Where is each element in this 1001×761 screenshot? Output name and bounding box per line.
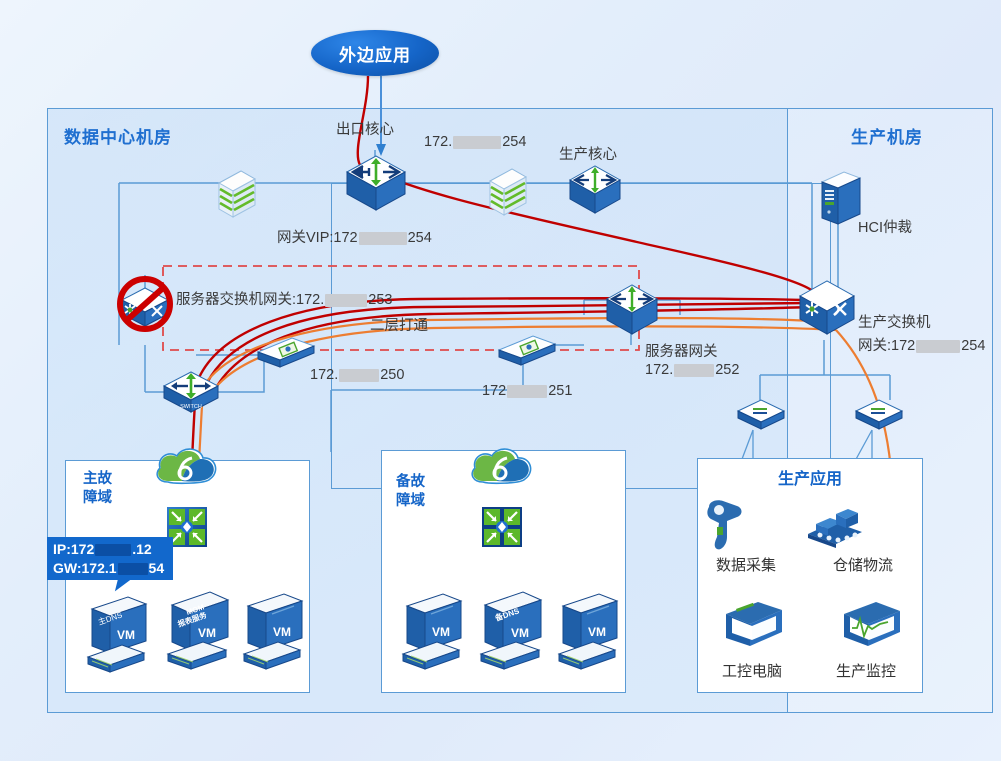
redaction-block bbox=[339, 369, 379, 382]
ip-250-label: 172.250 bbox=[310, 367, 404, 383]
production-apps-box bbox=[697, 458, 923, 693]
redaction-block bbox=[95, 544, 131, 556]
prod-switch-gw-prefix: 网关:172 bbox=[858, 338, 915, 354]
layer2-through-label: 二层打通 bbox=[370, 314, 428, 335]
redaction-block bbox=[674, 364, 714, 377]
firewall-appliance-251-icon[interactable] bbox=[495, 332, 559, 370]
industrial-pc-icon bbox=[718, 598, 790, 650]
vm-node[interactable]: 主DNS VM bbox=[80, 595, 154, 673]
monitor-icon bbox=[838, 598, 908, 650]
bfd-title-line2: 障域 bbox=[396, 492, 425, 511]
backup-fault-domain-title: 备故 障域 bbox=[396, 473, 425, 511]
bfd-title-line1: 备故 bbox=[396, 473, 425, 492]
server-switch-icon[interactable]: SWITCH bbox=[160, 370, 222, 416]
exit-core-label: 出口核心 bbox=[336, 118, 394, 139]
redaction-block bbox=[916, 340, 960, 353]
hci-arbiter-server-icon[interactable] bbox=[816, 168, 864, 230]
production-switch-label: 生产交换机 bbox=[858, 311, 931, 332]
server-gateway-label: 服务器网关 bbox=[645, 340, 718, 361]
prod-app-label-3: 工控电脑 bbox=[722, 660, 782, 681]
firewall-icon-2 bbox=[482, 163, 528, 221]
ip-251-prefix: 172 bbox=[482, 383, 506, 399]
vm-node[interactable]: VM bbox=[395, 592, 469, 670]
pfd-title-line1: 主故 bbox=[83, 470, 112, 489]
exit-core-ip-suffix: 254 bbox=[502, 134, 526, 150]
redaction-block bbox=[118, 563, 148, 575]
distribution-switch-backup-icon[interactable] bbox=[481, 506, 523, 548]
server-gateway-ip-label: 172.252 bbox=[645, 362, 739, 378]
production-switch-icon[interactable] bbox=[796, 278, 858, 340]
production-switch-gw-label: 网关:172254 bbox=[858, 334, 985, 355]
pfd-title-line2: 障域 bbox=[83, 489, 112, 508]
production-apps-title: 生产应用 bbox=[778, 470, 842, 489]
production-leaf-switch-2-icon[interactable] bbox=[853, 398, 905, 432]
svg-text:VM: VM bbox=[117, 628, 135, 642]
server-gw-ip-suffix: 252 bbox=[715, 362, 739, 378]
redaction-block bbox=[453, 136, 501, 149]
vm-ip-callout: IP:172.12 GW:172.154 bbox=[47, 537, 173, 580]
production-leaf-switch-1-icon[interactable] bbox=[735, 398, 787, 432]
exit-core-ip-prefix: 172. bbox=[424, 134, 452, 150]
external-application-node[interactable]: 外边应用 bbox=[311, 30, 439, 76]
firewall-icon-1 bbox=[211, 165, 257, 223]
svg-text:VM: VM bbox=[588, 625, 606, 639]
prod-switch-gw-suffix: 254 bbox=[961, 338, 985, 354]
server-switch-gateway-label: 服务器交换机网关:172.253 bbox=[176, 288, 392, 309]
scanner-icon bbox=[703, 497, 747, 557]
vm-node[interactable]: MOM 报表服务 VM bbox=[160, 590, 236, 670]
server-switch-gw-prefix: 服务器交换机网关:172. bbox=[176, 292, 324, 308]
ip-250-prefix: 172. bbox=[310, 367, 338, 383]
cloud-icon-backup bbox=[467, 444, 537, 488]
callout-gw-row: GW:172.154 bbox=[53, 559, 173, 578]
gateway-vip-prefix: 网关VIP:172 bbox=[277, 230, 358, 246]
prod-app-label-2: 仓储物流 bbox=[833, 554, 893, 575]
redaction-block bbox=[507, 385, 547, 398]
redaction-block bbox=[325, 294, 367, 307]
primary-fault-domain-title: 主故 障域 bbox=[83, 470, 112, 508]
firewall-appliance-250-icon[interactable] bbox=[254, 334, 318, 372]
callout-gw-suffix: 54 bbox=[149, 560, 165, 576]
production-core-router-icon[interactable] bbox=[567, 163, 623, 217]
ip-251-suffix: 251 bbox=[548, 383, 572, 399]
server-switch-gw-suffix: 253 bbox=[368, 292, 392, 308]
svg-text:VM: VM bbox=[273, 625, 291, 639]
svg-text:VM: VM bbox=[432, 625, 450, 639]
prod-app-label-4: 生产监控 bbox=[836, 660, 896, 681]
callout-ip-label: IP:172 bbox=[53, 541, 94, 557]
conveyor-icon bbox=[800, 500, 872, 550]
prod-app-label-1: 数据采集 bbox=[716, 554, 776, 575]
vm-node[interactable]: VM bbox=[551, 592, 625, 670]
server-gateway-router-icon[interactable] bbox=[604, 282, 660, 338]
vm-node[interactable]: 备DNS VM bbox=[473, 590, 549, 670]
gateway-vip-label: 网关VIP:172254 bbox=[277, 226, 432, 247]
production-core-label: 生产核心 bbox=[559, 143, 617, 164]
svg-text:VM: VM bbox=[511, 626, 529, 640]
redaction-block bbox=[359, 232, 407, 245]
hci-arbiter-label: HCI仲裁 bbox=[858, 216, 912, 237]
callout-gw-label: GW:172.1 bbox=[53, 560, 117, 576]
external-application-label: 外边应用 bbox=[339, 41, 411, 66]
cloud-icon-primary bbox=[152, 444, 222, 488]
callout-ip-row: IP:172.12 bbox=[53, 540, 173, 559]
exit-core-router-icon[interactable] bbox=[343, 152, 409, 214]
datacenter-room-title: 数据中心机房 bbox=[64, 123, 172, 148]
exit-core-ip-label: 172.254 bbox=[424, 134, 526, 150]
svg-text:VM: VM bbox=[198, 626, 216, 640]
prohibited-switch-icon bbox=[112, 272, 178, 338]
production-room-title: 生产机房 bbox=[851, 123, 923, 148]
server-gw-ip-prefix: 172. bbox=[645, 362, 673, 378]
gateway-vip-suffix: 254 bbox=[408, 230, 432, 246]
ip-250-suffix: 250 bbox=[380, 367, 404, 383]
ip-251-label: 172251 bbox=[482, 383, 572, 399]
vm-node[interactable]: VM bbox=[236, 592, 310, 670]
callout-ip-suffix: .12 bbox=[132, 541, 151, 557]
svg-text:SWITCH: SWITCH bbox=[180, 404, 202, 410]
